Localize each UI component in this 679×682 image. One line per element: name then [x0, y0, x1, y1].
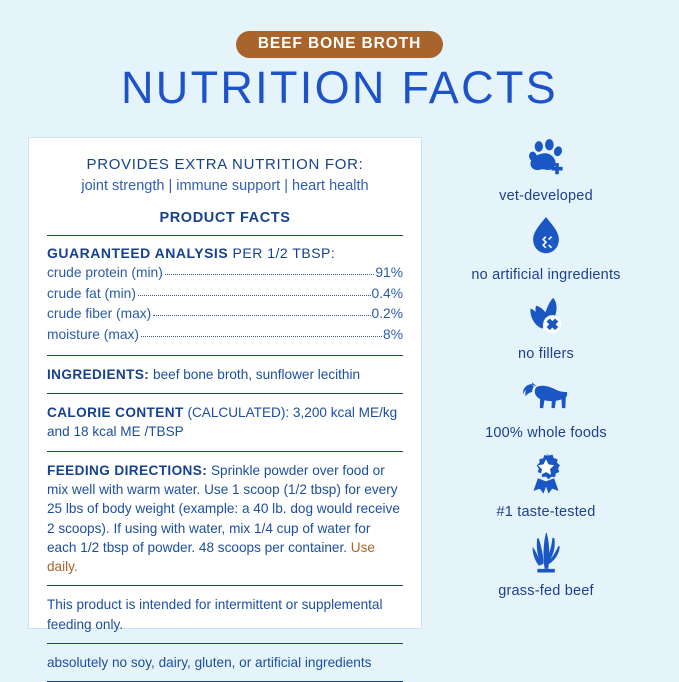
calorie-content-section: CALORIE CONTENT (CALCULATED): 3,200 kcal… [47, 403, 403, 442]
feature-label: 100% whole foods [432, 425, 660, 441]
analysis-nutrient-name: crude fiber (max) [47, 304, 151, 325]
feature-item: grass-fed beef [432, 528, 660, 599]
divider-rule-2 [47, 355, 403, 356]
feature-label: grass-fed beef [432, 583, 660, 599]
grass-icon [432, 528, 660, 576]
ingredients-label: INGREDIENTS: [47, 367, 149, 382]
leader-dots [165, 264, 375, 275]
paw-plus-icon [432, 133, 660, 181]
analysis-nutrient-value: 8% [383, 325, 403, 346]
divider-rule-3 [47, 393, 403, 394]
feature-label: vet-developed [432, 188, 660, 204]
cow-icon [432, 370, 660, 418]
feature-item: vet-developed [432, 133, 660, 204]
leader-dots [138, 285, 371, 296]
guaranteed-analysis-rows: crude protein (min)91%crude fat (min)0.4… [47, 263, 403, 346]
guaranteed-analysis-row: moisture (max)8% [47, 325, 403, 346]
analysis-nutrient-name: crude protein (min) [47, 263, 163, 284]
corn-x-icon [432, 291, 660, 339]
feature-label: #1 taste-tested [432, 504, 660, 520]
calorie-content-value: (CALCULATED): 3,200 kcal ME/kg [187, 405, 397, 420]
guaranteed-analysis-row: crude protein (min)91% [47, 263, 403, 284]
ingredients-value: beef bone broth, sunflower lecithin [153, 367, 360, 382]
water-drop-x-icon [432, 212, 660, 260]
guaranteed-analysis-section: GUARANTEED ANALYSIS PER 1/2 TBSP: crude … [47, 245, 403, 346]
page-title: NUTRITION FACTS [0, 62, 679, 114]
guaranteed-analysis-heading-bold: GUARANTEED ANALYSIS [47, 245, 228, 261]
feature-item: no artificial ingredients [432, 212, 660, 283]
analysis-nutrient-value: 0.4% [372, 284, 403, 305]
guaranteed-analysis-heading: GUARANTEED ANALYSIS PER 1/2 TBSP: [47, 245, 403, 261]
feeding-directions-section: FEEDING DIRECTIONS: Sprinkle powder over… [47, 461, 403, 577]
product-banner-label: BEEF BONE BROTH [236, 31, 443, 58]
guaranteed-analysis-heading-rest: PER 1/2 TBSP: [233, 245, 336, 261]
leader-dots [141, 326, 382, 337]
product-facts-heading: PRODUCT FACTS [47, 210, 403, 226]
feature-item: 100% whole foods [432, 370, 660, 441]
free-from-text: absolutely no soy, dairy, gluten, or art… [47, 653, 403, 672]
product-banner: BEEF BONE BROTH [0, 31, 679, 58]
analysis-nutrient-name: crude fat (min) [47, 284, 136, 305]
feature-label: no artificial ingredients [432, 267, 660, 283]
analysis-nutrient-value: 0.2% [372, 304, 403, 325]
benefits-list: joint strength | immune support | heart … [47, 178, 403, 194]
divider-rule-1 [47, 235, 403, 236]
feature-item: no fillers [432, 291, 660, 362]
analysis-nutrient-name: moisture (max) [47, 325, 139, 346]
disclaimer-text: This product is intended for intermitten… [47, 595, 403, 634]
feature-item: #1 taste-tested [432, 449, 660, 520]
feeding-directions-text: FEEDING DIRECTIONS: Sprinkle powder over… [47, 461, 403, 577]
feature-label: no fillers [432, 346, 660, 362]
ingredients-line: INGREDIENTS: beef bone broth, sunflower … [47, 365, 403, 384]
divider-rule-4 [47, 451, 403, 452]
analysis-nutrient-value: 91% [375, 263, 403, 284]
divider-rule-5 [47, 585, 403, 586]
free-from-section: absolutely no soy, dairy, gluten, or art… [47, 653, 403, 672]
guaranteed-analysis-row: crude fat (min)0.4% [47, 284, 403, 305]
guaranteed-analysis-row: crude fiber (max)0.2% [47, 304, 403, 325]
calorie-content-line2: and 18 kcal ME /TBSP [47, 422, 403, 441]
ingredients-section: INGREDIENTS: beef bone broth, sunflower … [47, 365, 403, 384]
nutrition-facts-panel: PROVIDES EXTRA NUTRITION FOR: joint stre… [28, 137, 422, 629]
calorie-content-line1: CALORIE CONTENT (CALCULATED): 3,200 kcal… [47, 403, 403, 422]
divider-rule-6 [47, 643, 403, 644]
leader-dots [153, 305, 370, 316]
disclaimer-section: This product is intended for intermitten… [47, 595, 403, 634]
provides-heading: PROVIDES EXTRA NUTRITION FOR: [47, 156, 403, 173]
award-rosette-icon [432, 449, 660, 497]
feeding-directions-label: FEEDING DIRECTIONS: [47, 463, 207, 478]
calorie-content-label: CALORIE CONTENT [47, 405, 184, 420]
feature-icon-column: vet-developed no artificial ingredients [432, 133, 660, 607]
